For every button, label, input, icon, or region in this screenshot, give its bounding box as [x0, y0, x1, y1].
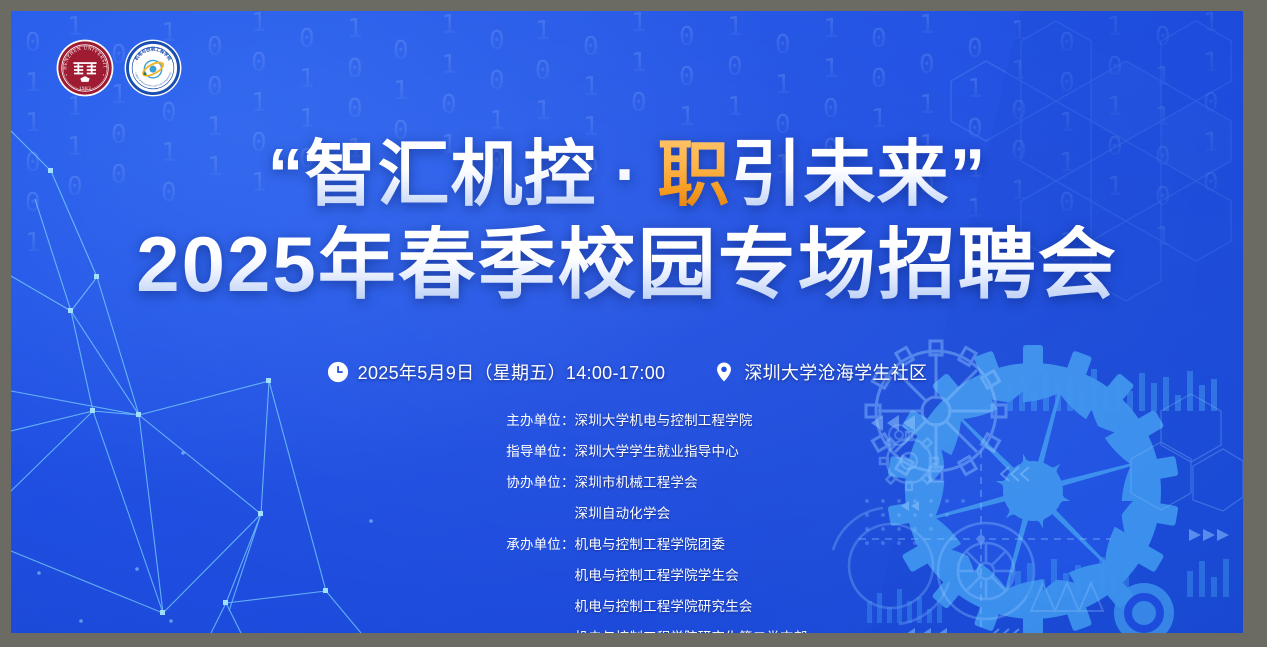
organizer-label: 主办单位	[477, 409, 561, 429]
organizer-row: 承办单位 ： 机电与控制工程学院团委 机电与控制工程学院学生会 机电与控制工程学…	[477, 533, 777, 633]
svg-text:1: 1	[1155, 102, 1171, 132]
organizer-row: 指导单位 ： 深圳大学学生就业指导中心	[477, 440, 777, 460]
svg-text:1: 1	[919, 90, 935, 120]
svg-text:1983: 1983	[79, 86, 91, 92]
svg-text:1: 1	[967, 74, 983, 104]
svg-text:0: 0	[1059, 68, 1075, 98]
svg-text:0: 0	[631, 88, 647, 118]
svg-text:0: 0	[207, 32, 223, 62]
svg-text:1: 1	[679, 102, 695, 132]
event-datetime-text: 2025年5月9日（星期五）14:00-17:00	[358, 359, 666, 385]
organizer-value: 深圳市机械工程学会	[575, 471, 698, 491]
organizer-value: 深圳大学学生就业指导中心	[575, 440, 739, 460]
svg-text:1: 1	[1107, 12, 1123, 42]
svg-text:1: 1	[441, 50, 457, 80]
organizer-colon: ：	[561, 409, 575, 429]
svg-text:0: 0	[1107, 52, 1123, 82]
title-highlight-char: 职	[657, 135, 730, 215]
svg-text:1: 1	[631, 11, 647, 38]
mechatronics-college-seal-logo: 机电与控制工程学院 College of Mechatronics and Co…	[124, 39, 182, 97]
svg-text:0: 0	[871, 24, 887, 54]
svg-text:0: 0	[161, 98, 177, 128]
svg-text:0: 0	[535, 56, 551, 86]
svg-text:0: 0	[919, 50, 935, 80]
organizer-value: 深圳大学机电与控制工程学院	[575, 409, 753, 429]
organizer-colon: ：	[561, 533, 575, 633]
svg-text:1: 1	[299, 104, 315, 134]
svg-text:1: 1	[775, 70, 791, 100]
recruitment-poster: 011001 10110 0100 11010 0011 10101 0110 …	[11, 11, 1243, 633]
svg-text:0: 0	[251, 48, 267, 78]
svg-text:0: 0	[1059, 28, 1075, 58]
title-line-1: “智汇机控·职引未来”	[11, 139, 1243, 211]
organizer-list: 主办单位 ： 深圳大学机电与控制工程学院 指导单位 ： 深圳大学学生就业指导中心…	[11, 409, 1243, 633]
svg-text:0: 0	[727, 52, 743, 82]
svg-text:0: 0	[441, 90, 457, 120]
svg-text:1: 1	[583, 72, 599, 102]
svg-text:1: 1	[25, 68, 41, 98]
svg-text:0: 0	[775, 30, 791, 60]
organizer-value: 机电与控制工程学院团委	[575, 533, 808, 553]
svg-text:1: 1	[1011, 56, 1027, 86]
organizer-row: 协办单位 ： 深圳市机械工程学会 深圳自动化学会	[477, 471, 777, 522]
svg-text:1: 1	[67, 12, 83, 42]
svg-text:1: 1	[489, 106, 505, 136]
svg-text:0: 0	[583, 32, 599, 62]
svg-text:1: 1	[535, 96, 551, 126]
svg-text:0: 0	[393, 36, 409, 66]
svg-text:1: 1	[1107, 92, 1123, 122]
svg-text:1: 1	[1155, 62, 1171, 92]
svg-text:0: 0	[207, 72, 223, 102]
title-quote-close: ”	[950, 135, 987, 215]
svg-text:0: 0	[967, 34, 983, 64]
svg-text:1: 1	[1011, 16, 1027, 46]
svg-text:0: 0	[489, 26, 505, 56]
map-pin-icon	[713, 361, 735, 383]
organizer-value: 机电与控制工程学院研究生会	[575, 595, 808, 615]
event-location: 深圳大学沧海学生社区	[713, 359, 927, 385]
svg-text:0: 0	[1155, 22, 1171, 52]
organizer-values: 深圳市机械工程学会 深圳自动化学会	[575, 471, 698, 522]
svg-text:0: 0	[347, 54, 363, 84]
organizer-label: 承办单位	[477, 533, 561, 633]
organizer-label: 协办单位	[477, 471, 561, 522]
svg-text:1: 1	[299, 64, 315, 94]
svg-text:1: 1	[919, 11, 935, 40]
title-separator: ·	[597, 135, 658, 215]
svg-text:0: 0	[871, 64, 887, 94]
svg-text:1: 1	[393, 76, 409, 106]
svg-text:1: 1	[441, 11, 457, 40]
svg-text:0: 0	[679, 22, 695, 52]
organizer-value: 机电与控制工程学院研究生第二党支部	[575, 626, 808, 633]
svg-text:1: 1	[207, 112, 223, 142]
organizer-values: 深圳大学学生就业指导中心	[575, 440, 739, 460]
organizer-value: 深圳自动化学会	[575, 502, 698, 522]
svg-text:1: 1	[535, 16, 551, 46]
svg-text:1: 1	[631, 48, 647, 78]
organizer-label: 指导单位	[477, 440, 561, 460]
organizer-row: 主办单位 ： 深圳大学机电与控制工程学院	[477, 409, 777, 429]
svg-text:0: 0	[1203, 88, 1219, 118]
svg-text:1: 1	[871, 104, 887, 134]
event-datetime: 2025年5月9日（星期五）14:00-17:00	[327, 359, 666, 385]
svg-text:1: 1	[1203, 11, 1219, 38]
svg-text:1: 1	[1059, 108, 1075, 138]
clock-icon	[327, 361, 349, 383]
svg-text:1: 1	[727, 12, 743, 42]
organizer-value: 机电与控制工程学院学生会	[575, 564, 808, 584]
poster-frame: 011001 10110 0100 11010 0011 10101 0110 …	[0, 0, 1267, 647]
svg-text:1: 1	[251, 88, 267, 118]
svg-text:1: 1	[25, 108, 41, 138]
svg-text:0: 0	[299, 24, 315, 54]
svg-text:0: 0	[679, 62, 695, 92]
svg-text:1: 1	[347, 14, 363, 44]
organizer-colon: ：	[561, 440, 575, 460]
svg-text:1: 1	[1203, 48, 1219, 78]
title-quote-open: “	[267, 135, 304, 215]
svg-text:0: 0	[489, 66, 505, 96]
logo-group: SHENZHEN UNIVERSITY 1983	[56, 39, 182, 97]
svg-text:1: 1	[251, 11, 267, 38]
organizer-values: 机电与控制工程学院团委 机电与控制工程学院学生会 机电与控制工程学院研究生会 机…	[575, 533, 808, 633]
title-line-2: 2025年春季校园专场招聘会	[11, 225, 1243, 303]
svg-text:1: 1	[727, 92, 743, 122]
shenzhen-university-seal-logo: SHENZHEN UNIVERSITY 1983	[56, 39, 114, 97]
event-location-text: 深圳大学沧海学生社区	[744, 359, 927, 385]
event-meta-row: 2025年5月9日（星期五）14:00-17:00 深圳大学沧海学生社区	[11, 359, 1243, 385]
poster-title-block: “智汇机控·职引未来” 2025年春季校园专场招聘会	[11, 139, 1243, 303]
title-part-1: 智汇机控	[304, 135, 596, 215]
svg-text:0: 0	[347, 94, 363, 124]
svg-text:1: 1	[823, 54, 839, 84]
svg-text:0: 0	[823, 94, 839, 124]
organizer-colon: ：	[561, 471, 575, 522]
svg-text:0: 0	[1011, 96, 1027, 126]
title-part-3: 引未来	[731, 135, 950, 215]
svg-text:0: 0	[25, 28, 41, 58]
svg-text:1: 1	[823, 14, 839, 44]
organizer-values: 深圳大学机电与控制工程学院	[575, 409, 753, 429]
